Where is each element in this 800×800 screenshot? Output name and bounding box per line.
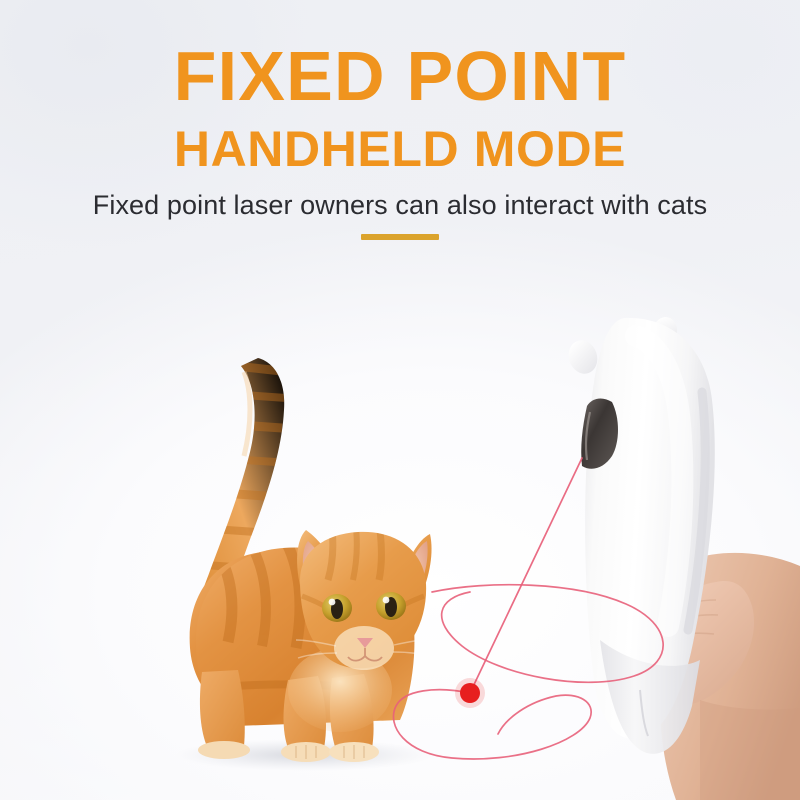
hand-shading: [700, 700, 800, 800]
cat-muzzle: [334, 626, 394, 670]
cat-eye-glint-left: [329, 599, 336, 606]
product-scene: [0, 0, 800, 800]
cat-rear-paw: [198, 741, 250, 759]
laser-dot-glow: [455, 678, 485, 708]
scene-svg: [0, 0, 800, 800]
product-banner: FIXED POINT HANDHELD MODE Fixed point la…: [0, 0, 800, 800]
laser-beam: [470, 458, 582, 693]
cat-eye-glint-right: [383, 597, 390, 604]
cat-rear-leg: [200, 670, 245, 746]
laser-device[interactable]: [564, 315, 714, 754]
cat-illustration: [190, 358, 434, 762]
